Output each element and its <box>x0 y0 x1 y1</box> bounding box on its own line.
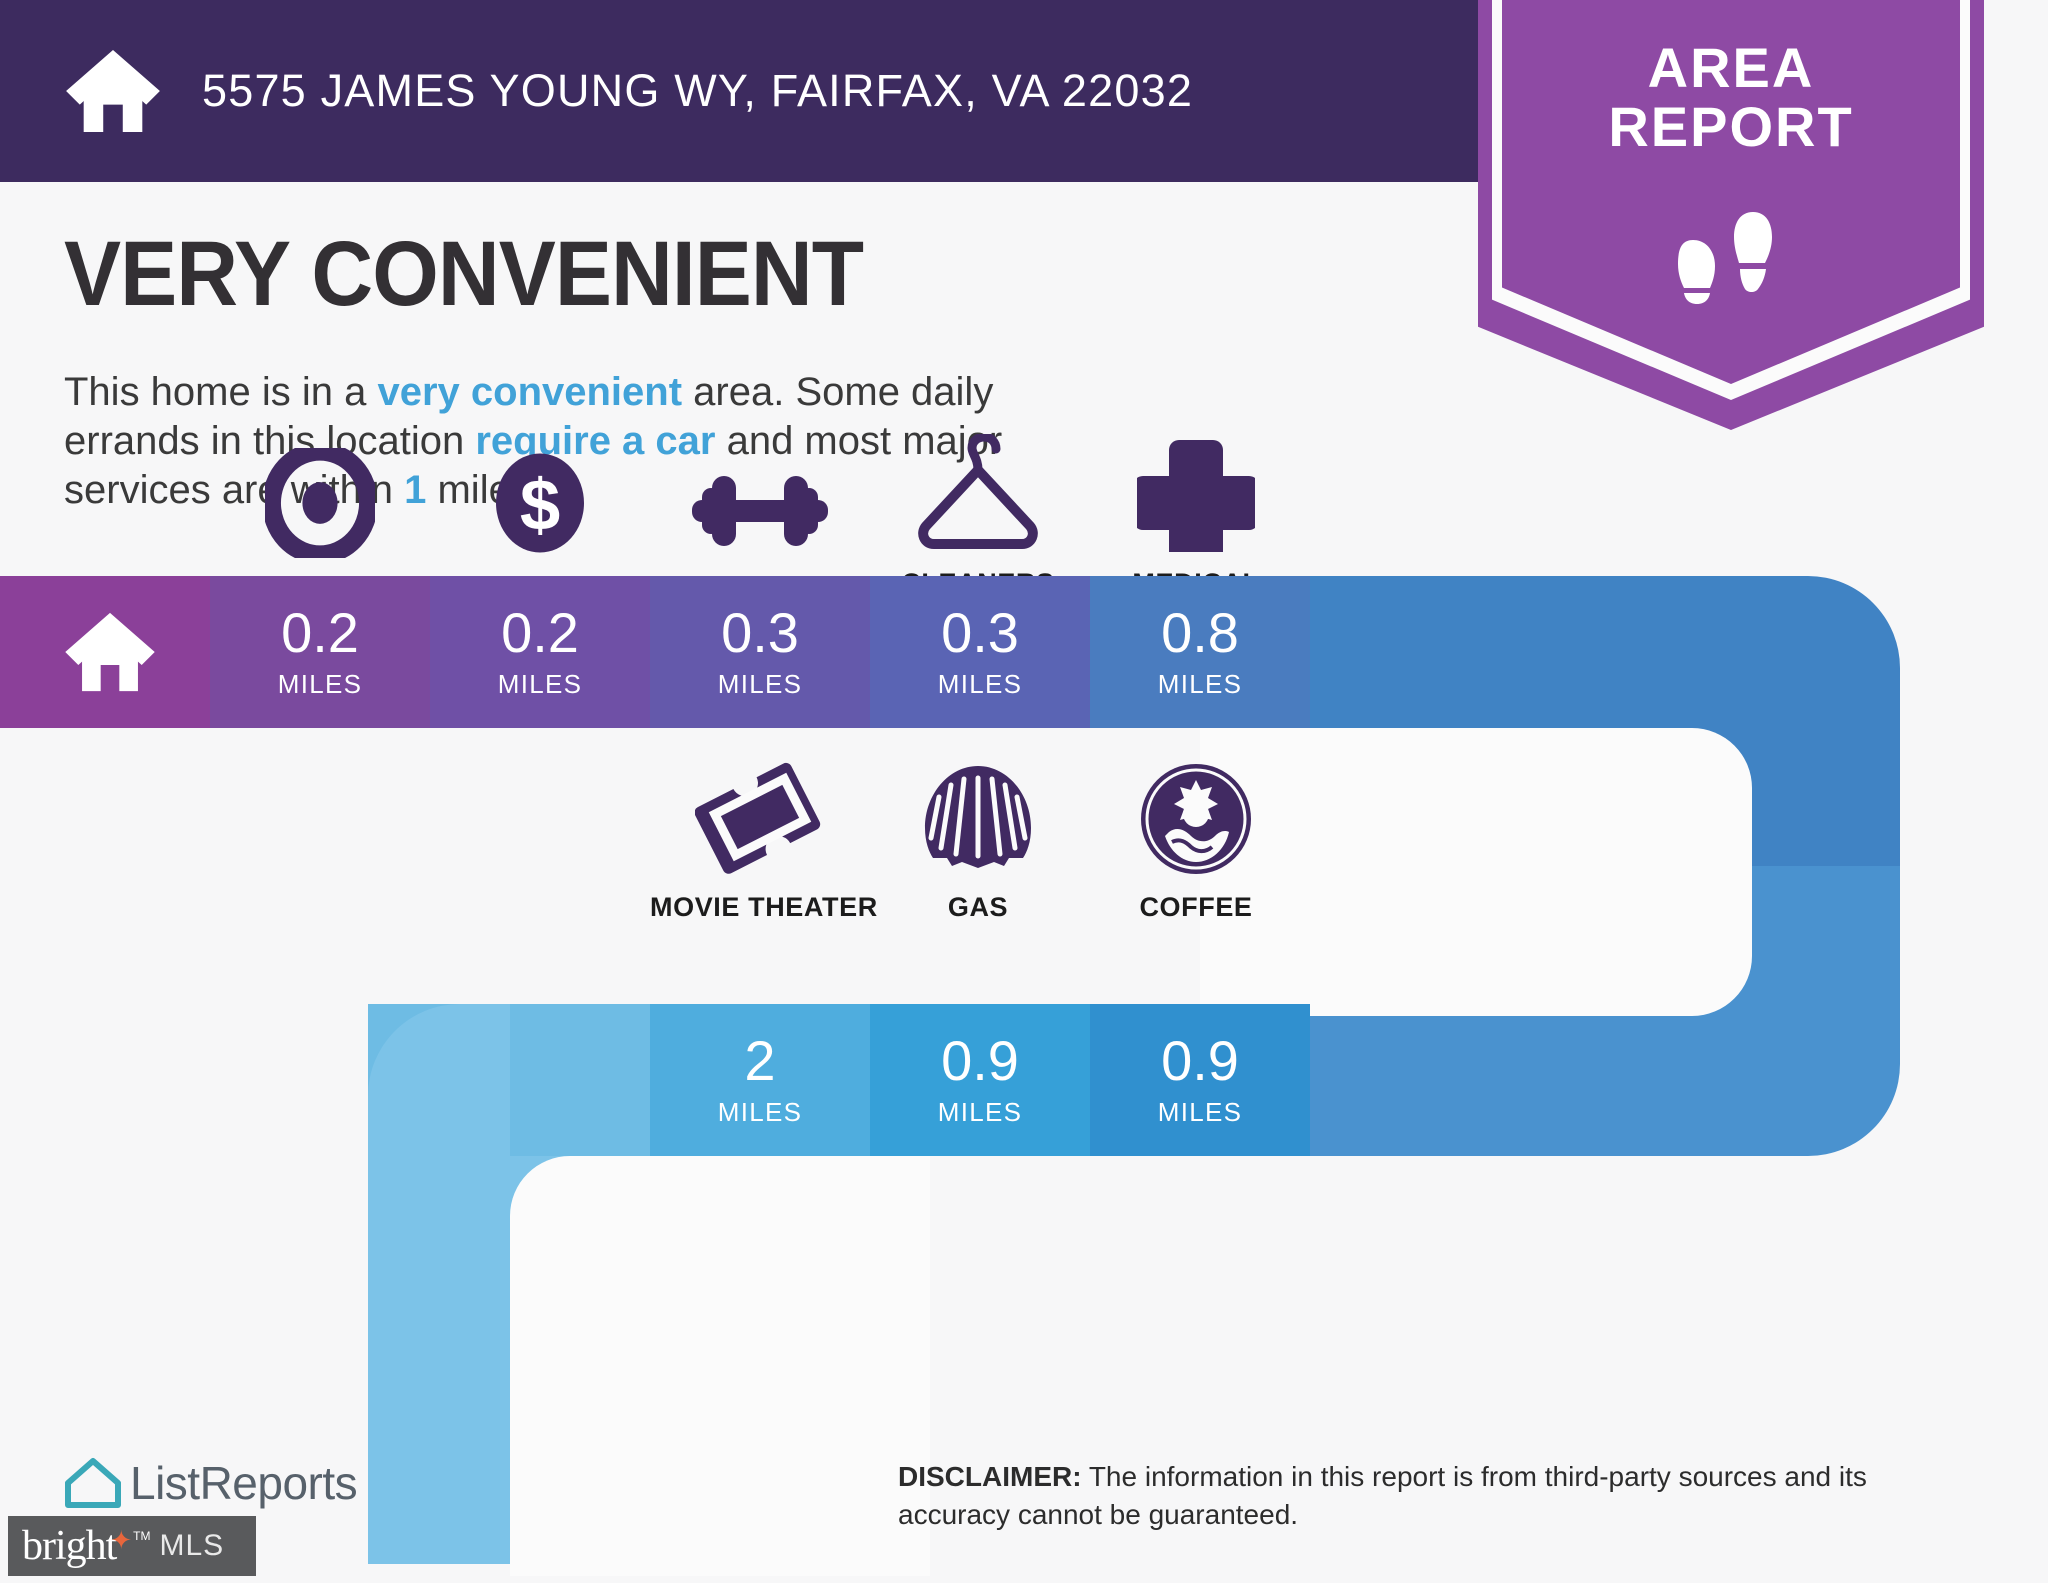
star-icon: ✦ <box>110 1525 132 1556</box>
bright-mls-logo[interactable]: bright ✦ TM MLS <box>8 1516 256 1576</box>
mls-wordmark: MLS <box>159 1529 224 1563</box>
disclaimer-label: DISCLAIMER: <box>898 1461 1082 1492</box>
distance-unit: MILES <box>1158 1097 1243 1128</box>
house-icon <box>64 48 162 134</box>
target-icon <box>210 440 430 558</box>
dumbbell-icon <box>650 440 870 558</box>
blurb-part1: This home is in a <box>64 370 377 414</box>
ticket-icon <box>650 758 870 876</box>
distance-unit: MILES <box>498 669 583 700</box>
cross-icon <box>1086 434 1306 552</box>
track-right-cutout <box>1310 728 1752 1016</box>
listreports-house-icon <box>62 1455 124 1511</box>
amenity-icon-cleaners[interactable]: CLEANERS <box>868 434 1088 599</box>
trademark-symbol: TM <box>133 1529 150 1543</box>
amenity-distance-gym: 0.3 MILES <box>650 576 870 728</box>
track-home-marker <box>0 576 220 728</box>
amenity-track: PHARMACY $ ATM GYM <box>0 568 2048 1583</box>
amenity-distance-movie-theater: 2 MILES <box>650 1004 870 1156</box>
listreports-logo[interactable]: ListReports <box>62 1455 357 1511</box>
badge-title: AREA REPORT <box>1478 38 1984 157</box>
amenity-distance-medical: 0.8 MILES <box>1090 576 1310 728</box>
starbucks-icon <box>1086 758 1306 876</box>
amenity-label: GAS <box>868 892 1088 923</box>
distance-unit: MILES <box>938 1097 1023 1128</box>
badge-title-line2: REPORT <box>1478 97 1984 156</box>
distance-unit: MILES <box>938 669 1023 700</box>
distance-unit: MILES <box>278 669 363 700</box>
home-icon <box>63 611 157 693</box>
distance-value: 0.9 <box>941 1033 1019 1089</box>
header-bar: 5575 JAMES YOUNG WY, FAIRFAX, VA 22032 <box>0 0 1478 182</box>
distance-value: 0.3 <box>721 605 799 661</box>
property-address: 5575 JAMES YOUNG WY, FAIRFAX, VA 22032 <box>202 65 1193 117</box>
svg-text:$: $ <box>520 464 560 545</box>
hanger-icon <box>868 434 1088 552</box>
distance-unit: MILES <box>1158 669 1243 700</box>
amenity-distance-cleaners: 0.3 MILES <box>870 576 1090 728</box>
distance-value: 2 <box>744 1033 775 1089</box>
amenity-distance-pharmacy: 0.2 MILES <box>210 576 430 728</box>
amenity-label: MOVIE THEATER <box>650 892 870 923</box>
amenity-distance-atm: 0.2 MILES <box>430 576 650 728</box>
blurb-highlight-convenient: very convenient <box>377 370 682 414</box>
footprints-icon <box>1671 196 1791 306</box>
distance-value: 0.3 <box>941 605 1019 661</box>
distance-unit: MILES <box>718 669 803 700</box>
amenity-icon-gas[interactable]: GAS <box>868 758 1088 923</box>
track-left-cutout <box>510 1156 930 1576</box>
distance-value: 0.9 <box>1161 1033 1239 1089</box>
track-left-bend-top-right <box>510 1004 650 1156</box>
amenity-icon-movie-theater[interactable]: MOVIE THEATER <box>650 758 870 923</box>
amenity-icon-medical[interactable]: MEDICAL <box>1086 434 1306 599</box>
amenity-distance-coffee: 0.9 MILES <box>1090 1004 1310 1156</box>
distance-unit: MILES <box>718 1097 803 1128</box>
shell-icon <box>868 758 1088 876</box>
amenity-icon-coffee[interactable]: COFFEE <box>1086 758 1306 923</box>
amenity-label: COFFEE <box>1086 892 1306 923</box>
dollar-icon: $ <box>430 440 650 558</box>
listreports-wordmark: ListReports <box>130 1456 357 1510</box>
distance-value: 0.2 <box>281 605 359 661</box>
distance-value: 0.8 <box>1161 605 1239 661</box>
area-report-badge: AREA REPORT <box>1478 0 1984 430</box>
distance-value: 0.2 <box>501 605 579 661</box>
amenity-distance-gas: 0.9 MILES <box>870 1004 1090 1156</box>
disclaimer-text: DISCLAIMER: The information in this repo… <box>898 1458 1958 1534</box>
badge-title-line1: AREA <box>1478 38 1984 97</box>
page-title: VERY CONVENIENT <box>64 222 863 327</box>
bright-wordmark: bright <box>22 1522 116 1570</box>
